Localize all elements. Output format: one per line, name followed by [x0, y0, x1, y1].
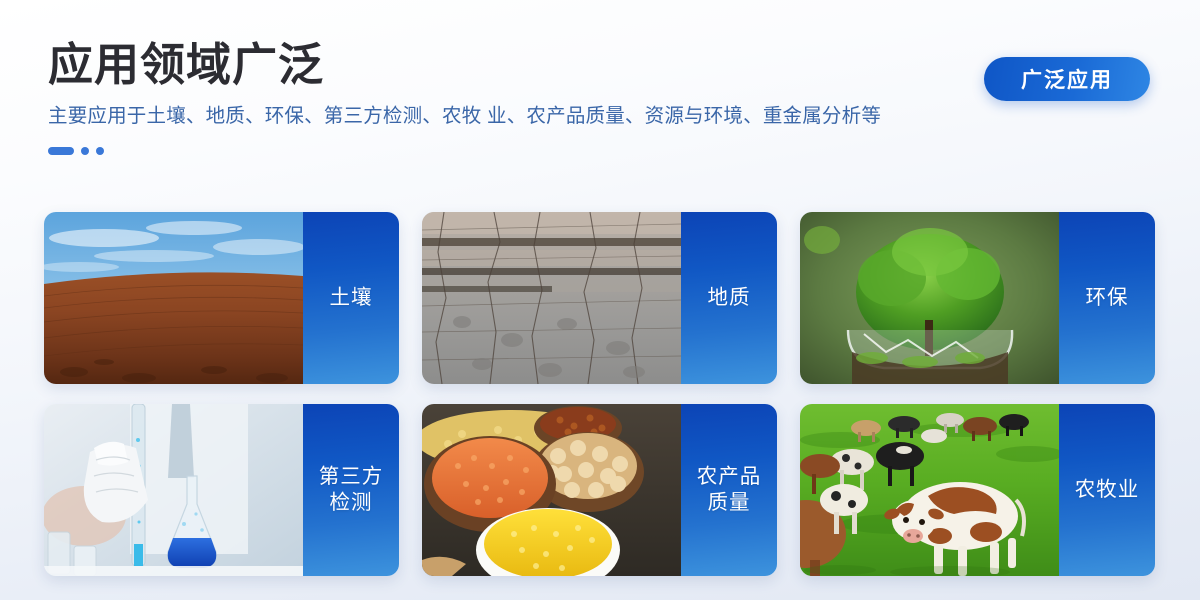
application-card-third-party-testing[interactable]: 第三方 检测: [44, 404, 399, 576]
grain-bowls-photo: [422, 404, 681, 576]
pagination-dot-active[interactable]: [48, 147, 74, 155]
application-cards-grid: 土壤: [44, 212, 1154, 576]
pagination-dots[interactable]: [48, 147, 1152, 155]
card-label-soil: 土壤: [303, 212, 399, 384]
laboratory-testing-photo: [44, 404, 303, 576]
page-subtitle: 主要应用于土壤、地质、环保、第三方检测、农牧 业、农产品质量、资源与环境、重金属…: [48, 103, 1152, 129]
pagination-dot-3[interactable]: [96, 147, 104, 155]
application-card-geology[interactable]: 地质: [422, 212, 777, 384]
card-label-animal-husbandry: 农牧业: [1059, 404, 1155, 576]
page-header: 应用领域广泛 主要应用于土壤、地质、环保、第三方检测、农牧 业、农产品质量、资源…: [0, 0, 1200, 200]
card-label-geology: 地质: [681, 212, 777, 384]
card-label-produce-quality: 农产品 质量: [681, 404, 777, 576]
application-card-produce-quality[interactable]: 农产品 质量: [422, 404, 777, 576]
status-badge: 广泛应用: [984, 57, 1150, 101]
eco-tree-photo: [800, 212, 1059, 384]
application-card-animal-husbandry[interactable]: 农牧业: [800, 404, 1155, 576]
pagination-dot-2[interactable]: [81, 147, 89, 155]
card-label-environment: 环保: [1059, 212, 1155, 384]
rock-strata-photo: [422, 212, 681, 384]
cattle-pasture-photo: [800, 404, 1059, 576]
application-card-environment[interactable]: 环保: [800, 212, 1155, 384]
application-card-soil[interactable]: 土壤: [44, 212, 399, 384]
soil-field-photo: [44, 212, 303, 384]
card-label-third-party-testing: 第三方 检测: [303, 404, 399, 576]
